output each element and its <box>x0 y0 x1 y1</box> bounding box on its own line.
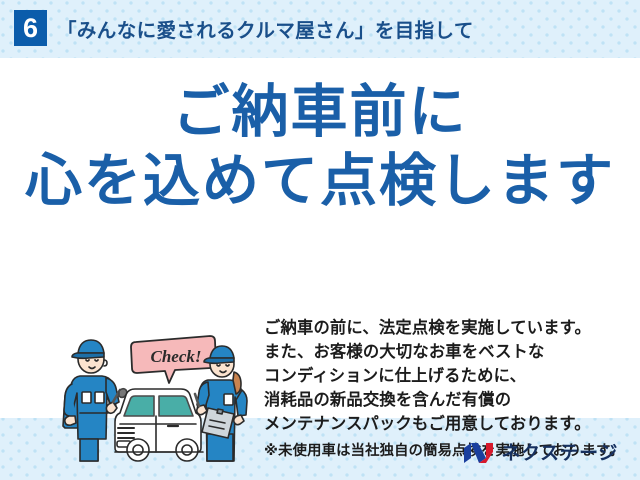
mechanics-illustration: Check! <box>58 320 258 462</box>
headline: ご納車前に 心を込めて点検します <box>0 82 640 212</box>
body-copy-line-2: また、お客様の大切なお車をベストな <box>264 340 624 364</box>
brand-logo: ネクステージ <box>463 440 618 466</box>
promo-banner: 6 「みんなに愛されるクルマ屋さん」を目指して ご納車前に 心を込めて点検します <box>0 0 640 480</box>
content-card: ご納車前に 心を込めて点検します <box>0 58 640 418</box>
headline-line-2: 心を込めて点検します <box>0 151 640 211</box>
body-copy-line-3: コンディションに仕上げるために、 <box>264 364 624 388</box>
headline-line-1: ご納車前に <box>0 82 640 142</box>
nextage-n-mark-icon <box>463 442 494 464</box>
mechanics-illustration-svg: Check! <box>58 320 258 462</box>
brand-name: ネクステージ <box>501 444 618 463</box>
header-title: 「みんなに愛されるクルマ屋さん」を目指して <box>57 14 474 43</box>
section-number-badge: 6 <box>14 10 47 46</box>
check-bubble-label: Check! <box>151 347 202 366</box>
body-copy-line-5: メンテナンスパックもご用意しております。 <box>264 412 624 436</box>
body-copy-line-4: 消耗品の新品交換を含んだ有償の <box>264 388 624 412</box>
body-copy-line-1: ご納車の前に、法定点検を実施しています。 <box>264 316 624 340</box>
van-illustration <box>115 389 203 461</box>
banner-header: 6 「みんなに愛されるクルマ屋さん」を目指して <box>0 0 640 58</box>
